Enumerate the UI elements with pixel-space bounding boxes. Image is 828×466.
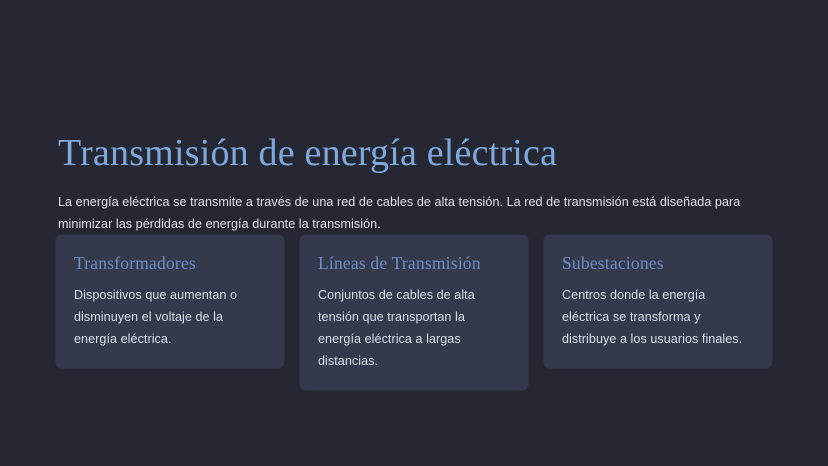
card-body: Centros donde la energía eléctrica se tr… xyxy=(562,284,754,350)
card-transformadores: Transformadores Dispositivos que aumenta… xyxy=(55,234,285,369)
card-title: Líneas de Transmisión xyxy=(318,251,510,275)
card-title: Transformadores xyxy=(74,251,266,275)
slide-canvas: Transmisión de energía eléctrica La ener… xyxy=(0,0,828,466)
page-title: Transmisión de energía eléctrica xyxy=(58,129,557,177)
card-body: Dispositivos que aumentan o disminuyen e… xyxy=(74,284,266,350)
card-lineas-de-transmision: Líneas de Transmisión Conjuntos de cable… xyxy=(299,234,529,391)
intro-paragraph: La energía eléctrica se transmite a trav… xyxy=(58,191,764,235)
card-subestaciones: Subestaciones Centros donde la energía e… xyxy=(543,234,773,369)
card-body: Conjuntos de cables de alta tensión que … xyxy=(318,284,510,372)
card-title: Subestaciones xyxy=(562,251,754,275)
card-list: Transformadores Dispositivos que aumenta… xyxy=(55,234,773,391)
